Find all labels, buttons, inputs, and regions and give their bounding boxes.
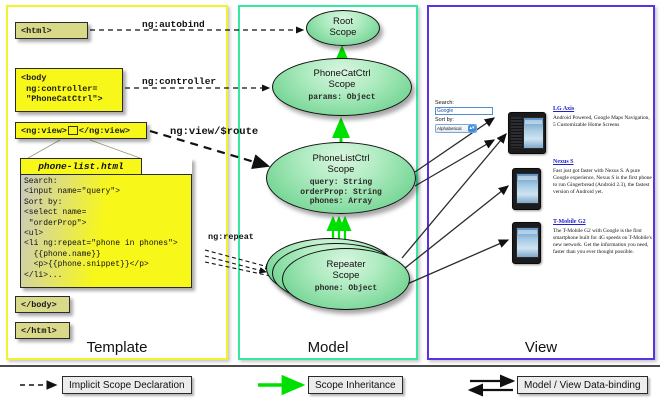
- legend-label: Implicit Scope Declaration: [62, 376, 192, 394]
- code-box-html-close: </html>: [15, 322, 70, 339]
- scope-phonelistctrl-props: query: String orderProp: String phones: …: [267, 178, 415, 207]
- edge-label-ng-repeat: ng:repeat: [208, 232, 254, 242]
- phone-name-link[interactable]: Nexus S: [553, 158, 653, 166]
- sort-select[interactable]: Alphabetical ▴▾: [435, 124, 477, 133]
- diagram-root: Template Model View: [0, 0, 660, 405]
- ngview-placeholder-icon: [68, 126, 78, 135]
- code-box-body-open: <body ng:controller= "PhoneCatCtrl">: [15, 68, 123, 112]
- legend: Implicit Scope Declaration Scope Inherit…: [0, 365, 660, 407]
- scope-phonelistctrl: PhoneListCtrl Scope query: String orderP…: [266, 142, 416, 214]
- phone-thumbnail-nexus-s: [512, 168, 541, 210]
- sort-label: Sort by:: [435, 117, 497, 124]
- panel-model-label: Model: [240, 339, 416, 356]
- code-box-html-open: <html>: [15, 22, 88, 39]
- phone-thumbnail-t-mobile-g2: [512, 222, 541, 264]
- phone-name-link[interactable]: T-Mobile G2: [553, 218, 653, 226]
- search-form: Search: Google Sort by: Alphabetical ▴▾: [435, 100, 497, 133]
- panel-view-label: View: [429, 339, 653, 356]
- legend-label: Model / View Data-binding: [517, 376, 648, 394]
- phone-list-item: T-Mobile G2 The T-Mobile G2 with Google …: [553, 218, 653, 256]
- scope-repeater-props: phone: Object: [283, 284, 409, 294]
- sort-select-value: Alphabetical: [437, 126, 462, 131]
- ngview-open-label: <ng:view>: [21, 126, 67, 136]
- note-code: Search: <input name="query"> Sort by: <s…: [20, 174, 192, 288]
- scope-phonecatctrl: PhoneCatCtrl Scope params: Object: [272, 58, 412, 116]
- phone-snippet: Android Powered, Google Maps Navigation,…: [553, 115, 653, 129]
- code-box-body-close: </body>: [15, 296, 70, 313]
- note-phone-list-html: phone-list.html Search: <input name="que…: [20, 158, 192, 288]
- chevron-updown-icon: ▴▾: [468, 125, 476, 132]
- ngview-close-label: </ng:view>: [79, 126, 130, 136]
- phone-list-item: Nexus S Fast just got faster with Nexus …: [553, 158, 653, 196]
- scope-repeater: Repeater Scope phone: Object: [282, 248, 410, 310]
- panel-template-label: Template: [8, 339, 226, 356]
- scope-root-title: Root Scope: [307, 17, 379, 38]
- phone-name-link[interactable]: LG Axis: [553, 105, 653, 113]
- legend-label: Scope Inheritance: [308, 376, 403, 394]
- search-label: Search:: [435, 100, 497, 107]
- scope-phonecatctrl-props: params: Object: [273, 93, 411, 103]
- edge-label-ng-controller: ng:controller: [142, 76, 216, 87]
- edge-label-ng-view-route: ng:view/$route: [170, 126, 258, 138]
- scope-phonelistctrl-title: PhoneListCtrl Scope: [267, 154, 415, 175]
- phone-screen: [516, 173, 539, 204]
- phone-screen: [523, 117, 544, 149]
- note-title: phone-list.html: [20, 158, 142, 175]
- phone-screen: [516, 227, 539, 258]
- phone-thumbnail-lg-axis: [508, 112, 546, 154]
- phone-snippet: The T-Mobile G2 with Google is the first…: [553, 228, 653, 256]
- scope-phonecatctrl-title: PhoneCatCtrl Scope: [273, 69, 411, 90]
- scope-repeater-title: Repeater Scope: [283, 260, 409, 281]
- search-input[interactable]: Google: [435, 107, 493, 115]
- edge-label-ng-autobind: ng:autobind: [142, 19, 205, 30]
- keyboard-icon: [511, 117, 522, 148]
- phone-list-item: LG Axis Android Powered, Google Maps Nav…: [553, 105, 653, 129]
- code-box-ngview: <ng:view></ng:view>: [15, 122, 147, 139]
- phone-snippet: Fast just got faster with Nexus S. A pur…: [553, 168, 653, 196]
- scope-root: Root Scope: [306, 10, 380, 46]
